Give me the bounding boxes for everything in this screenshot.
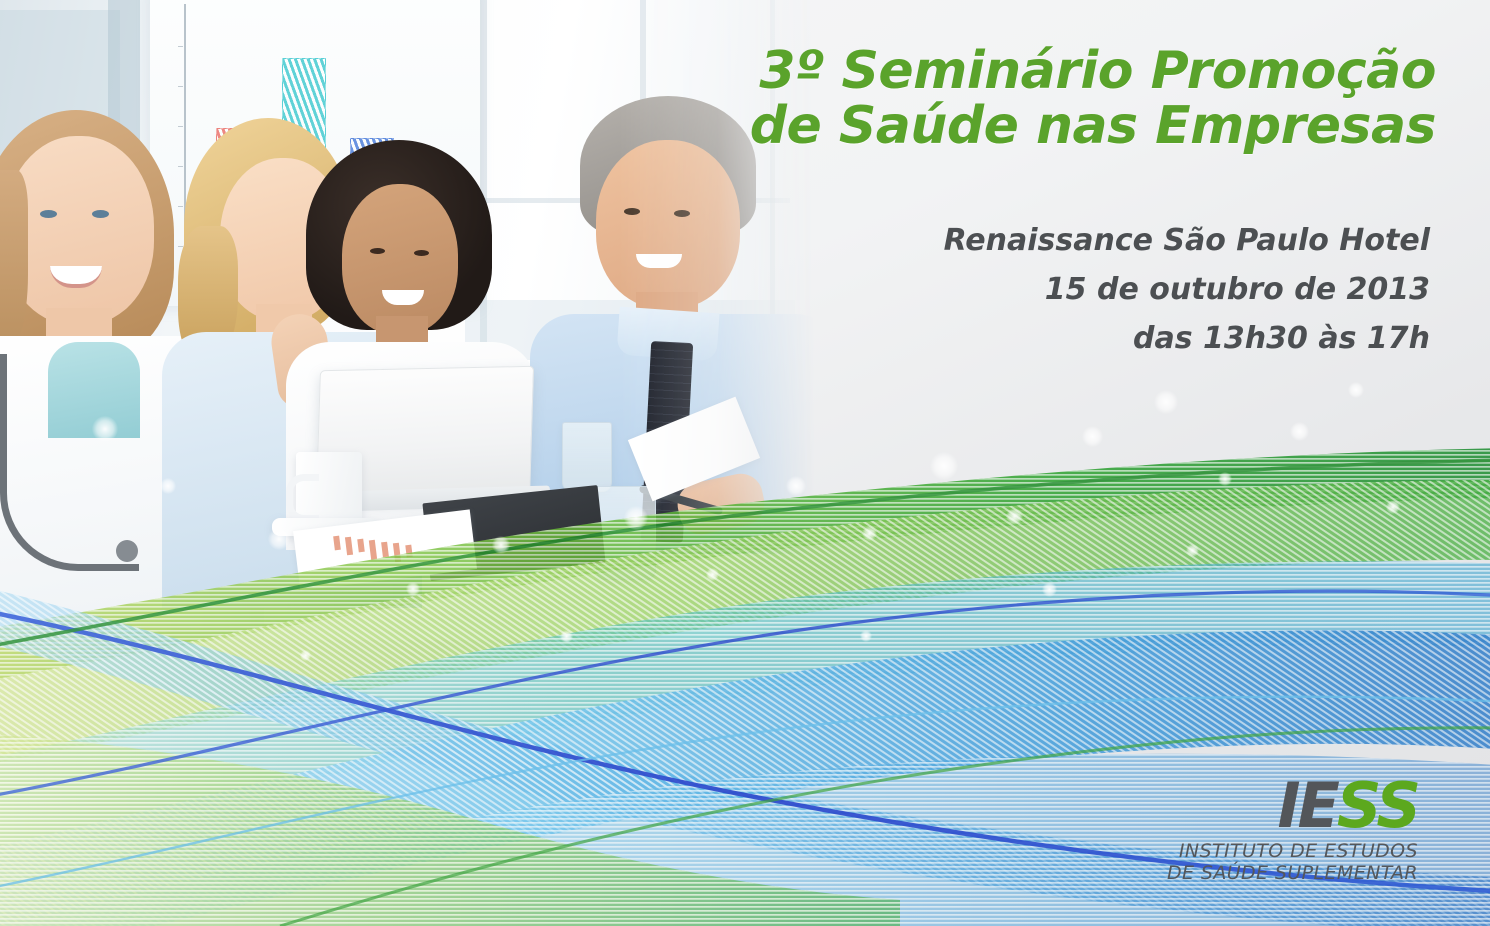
eye [624,208,640,215]
event-details: Renaissance São Paulo Hotel 15 de outubr… [944,216,1430,364]
iess-logo: IESS INSTITUTO DE ESTUDOS DE SAÚDE SUPLE… [1167,777,1418,884]
chart-tick [178,46,183,47]
logo-letters-ss: SS [1337,769,1418,842]
iess-logo-wordmark: IESS [1167,777,1418,836]
face [342,184,458,334]
event-title-line-1: 3º Seminário Promoção [750,44,1436,99]
logo-letters-ie: IE [1277,769,1336,842]
event-date: 15 de outubro de 2013 [944,265,1430,314]
event-title-line-2: de Saúde nas Empresas [750,99,1436,154]
event-time: das 13h30 às 17h [944,314,1430,363]
smile [636,254,682,268]
logo-tagline-line-2: DE SAÚDE SUPLEMENTAR [1167,862,1418,884]
promotional-banner: 3º Seminário Promoção de Saúde nas Empre… [0,0,1490,926]
eye [414,250,429,256]
eye [40,210,57,218]
chart-tick [178,86,183,87]
event-title: 3º Seminário Promoção de Saúde nas Empre… [750,44,1436,154]
logo-tagline-line-1: INSTITUTO DE ESTUDOS [1167,840,1418,862]
eye [92,210,109,218]
eye [370,248,385,254]
event-venue: Renaissance São Paulo Hotel [944,216,1430,265]
iess-logo-tagline: INSTITUTO DE ESTUDOS DE SAÚDE SUPLEMENTA… [1167,840,1418,884]
face [596,140,740,308]
eye [674,210,690,217]
